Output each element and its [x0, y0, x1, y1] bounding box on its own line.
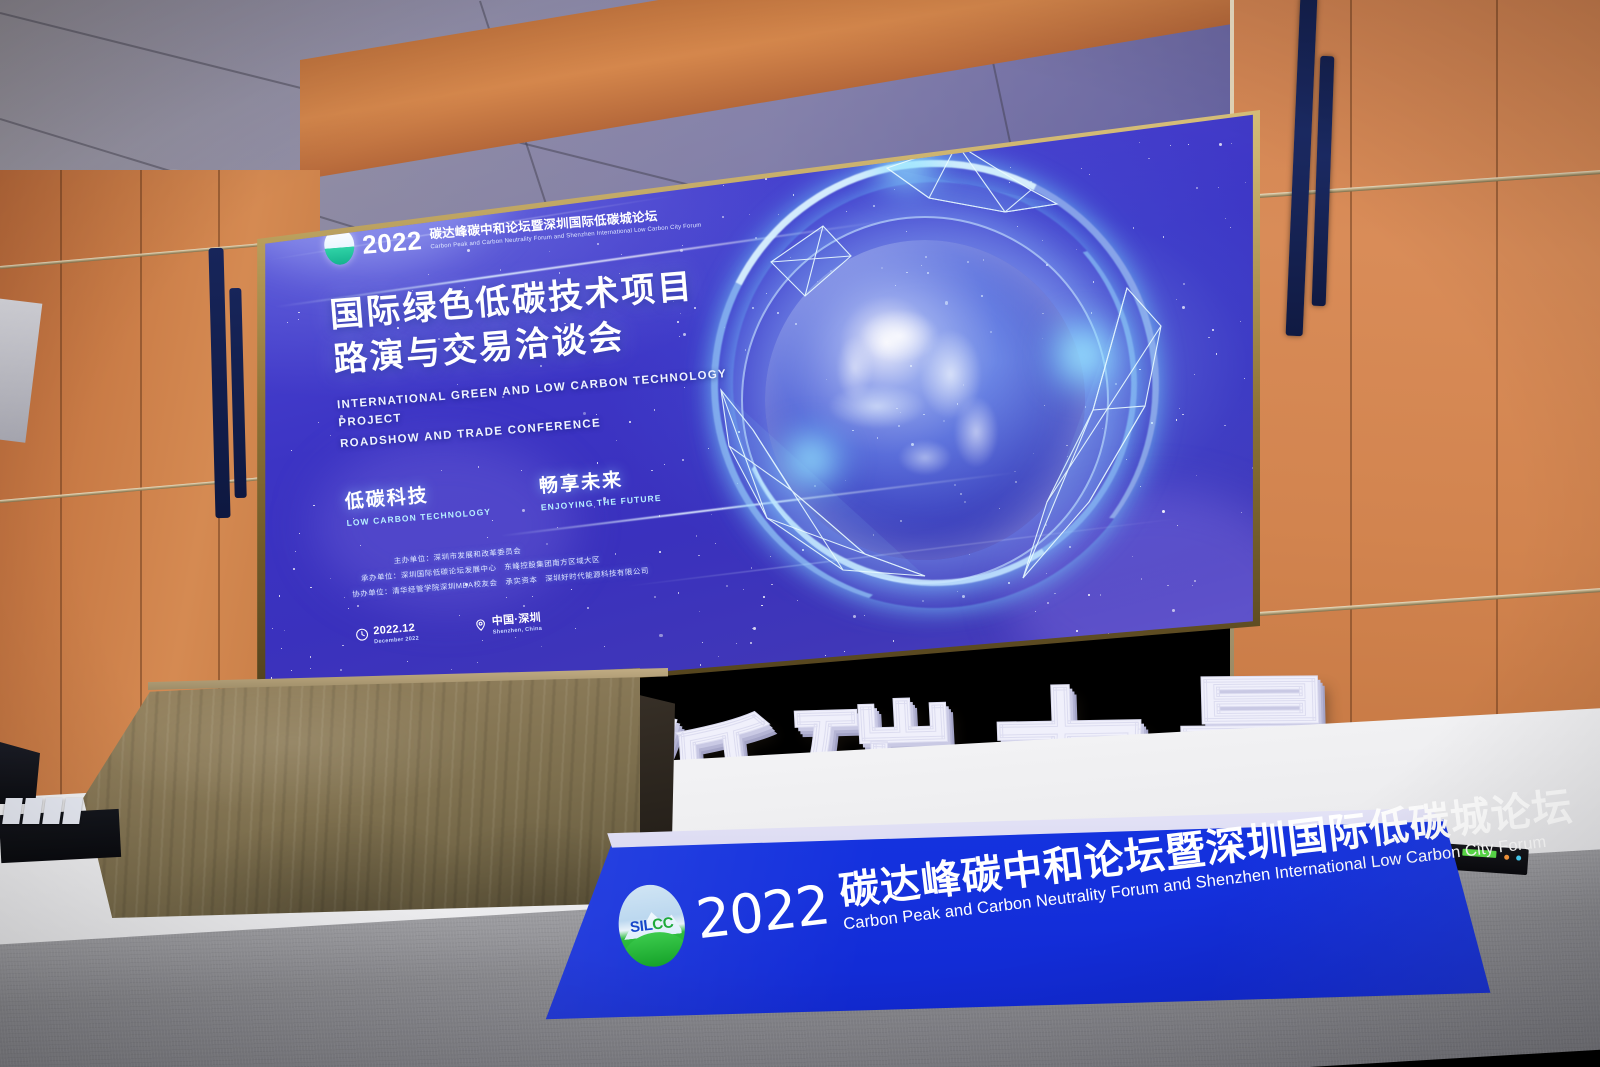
star	[968, 120, 970, 122]
star	[281, 648, 282, 649]
podium-banner: SILCC 2022 碳达峰碳中和论坛暨深圳国际低碳城论坛 Carbon Pea…	[540, 808, 1500, 1028]
star	[428, 191, 429, 192]
star	[726, 122, 728, 124]
star	[371, 113, 372, 114]
star	[291, 450, 292, 451]
star	[515, 637, 516, 638]
star	[541, 646, 542, 647]
star	[917, 141, 918, 142]
name-card	[2, 798, 23, 824]
star	[402, 114, 405, 117]
name-card	[62, 798, 83, 824]
star	[310, 587, 311, 588]
name-card-group	[2, 790, 82, 824]
star	[1245, 182, 1246, 183]
slogan-1: 低碳科技 LOW CARBON TECHNOLOGY	[344, 475, 492, 527]
star	[541, 132, 542, 133]
star	[348, 608, 349, 609]
star	[312, 137, 313, 138]
map-pin-icon	[474, 618, 488, 632]
star	[439, 132, 440, 133]
star	[517, 193, 518, 194]
organizer-list: 主办单位：深圳市发展和改革委员会 承办单位：深圳国际低碳论坛发展中心 东峰控股集…	[349, 523, 781, 602]
star	[289, 118, 291, 120]
slogan-2: 畅享未来 ENJOYING THE FUTURE	[538, 462, 662, 513]
name-card	[42, 798, 63, 824]
star	[284, 630, 285, 631]
star	[568, 117, 569, 118]
star	[407, 661, 408, 662]
star	[493, 172, 494, 173]
screen-text-block: 2022 碳达峰碳中和论坛暨深圳国际低碳城论坛 Carbon Peak and …	[323, 196, 785, 647]
silcc-text-sil: SIL	[629, 917, 653, 937]
star	[819, 131, 820, 132]
star	[391, 115, 392, 116]
star	[248, 203, 249, 204]
star	[342, 645, 343, 646]
star	[318, 422, 319, 423]
star	[760, 127, 761, 128]
star	[822, 148, 823, 149]
star	[482, 640, 483, 641]
star	[313, 505, 314, 506]
star	[299, 533, 300, 534]
star	[330, 578, 331, 579]
star	[298, 319, 299, 320]
star	[561, 161, 562, 162]
star	[492, 153, 494, 155]
star	[1007, 127, 1009, 129]
star	[333, 178, 334, 179]
star	[287, 322, 288, 323]
star	[1240, 321, 1241, 322]
scene-root: 2022 碳达峰碳中和论坛暨深圳国际低碳城论坛 Carbon Peak and …	[0, 0, 1600, 1067]
star	[298, 312, 299, 313]
star	[604, 646, 605, 647]
slogan-2-cn: 畅享未来	[538, 462, 661, 499]
star	[310, 656, 311, 657]
star	[295, 551, 296, 552]
star	[279, 595, 280, 596]
star	[1244, 378, 1245, 379]
name-card	[22, 798, 43, 824]
star	[295, 216, 296, 217]
star	[293, 568, 295, 570]
star	[344, 597, 345, 598]
star	[923, 112, 924, 113]
star	[382, 146, 383, 147]
star	[787, 117, 788, 118]
star	[330, 218, 331, 219]
equipment-led	[1516, 855, 1521, 860]
star	[405, 180, 406, 181]
star	[726, 138, 728, 140]
clock-icon	[355, 628, 369, 642]
star	[251, 379, 254, 382]
star	[256, 642, 257, 643]
star	[591, 165, 592, 166]
star	[593, 141, 594, 142]
star	[330, 435, 331, 436]
star	[866, 151, 867, 152]
podium-year: 2022	[693, 878, 832, 947]
star	[272, 628, 273, 629]
star	[681, 158, 682, 159]
star	[699, 139, 700, 140]
star	[901, 126, 903, 128]
silcc-text-cc: CC	[651, 914, 674, 933]
silcc-logo: SILCC	[614, 881, 689, 970]
star	[477, 662, 478, 663]
header-year: 2022	[361, 227, 423, 258]
slogan-row: 低碳科技 LOW CARBON TECHNOLOGY 畅享未来 ENJOYING…	[344, 453, 776, 528]
star	[703, 174, 704, 175]
star	[1241, 512, 1242, 513]
